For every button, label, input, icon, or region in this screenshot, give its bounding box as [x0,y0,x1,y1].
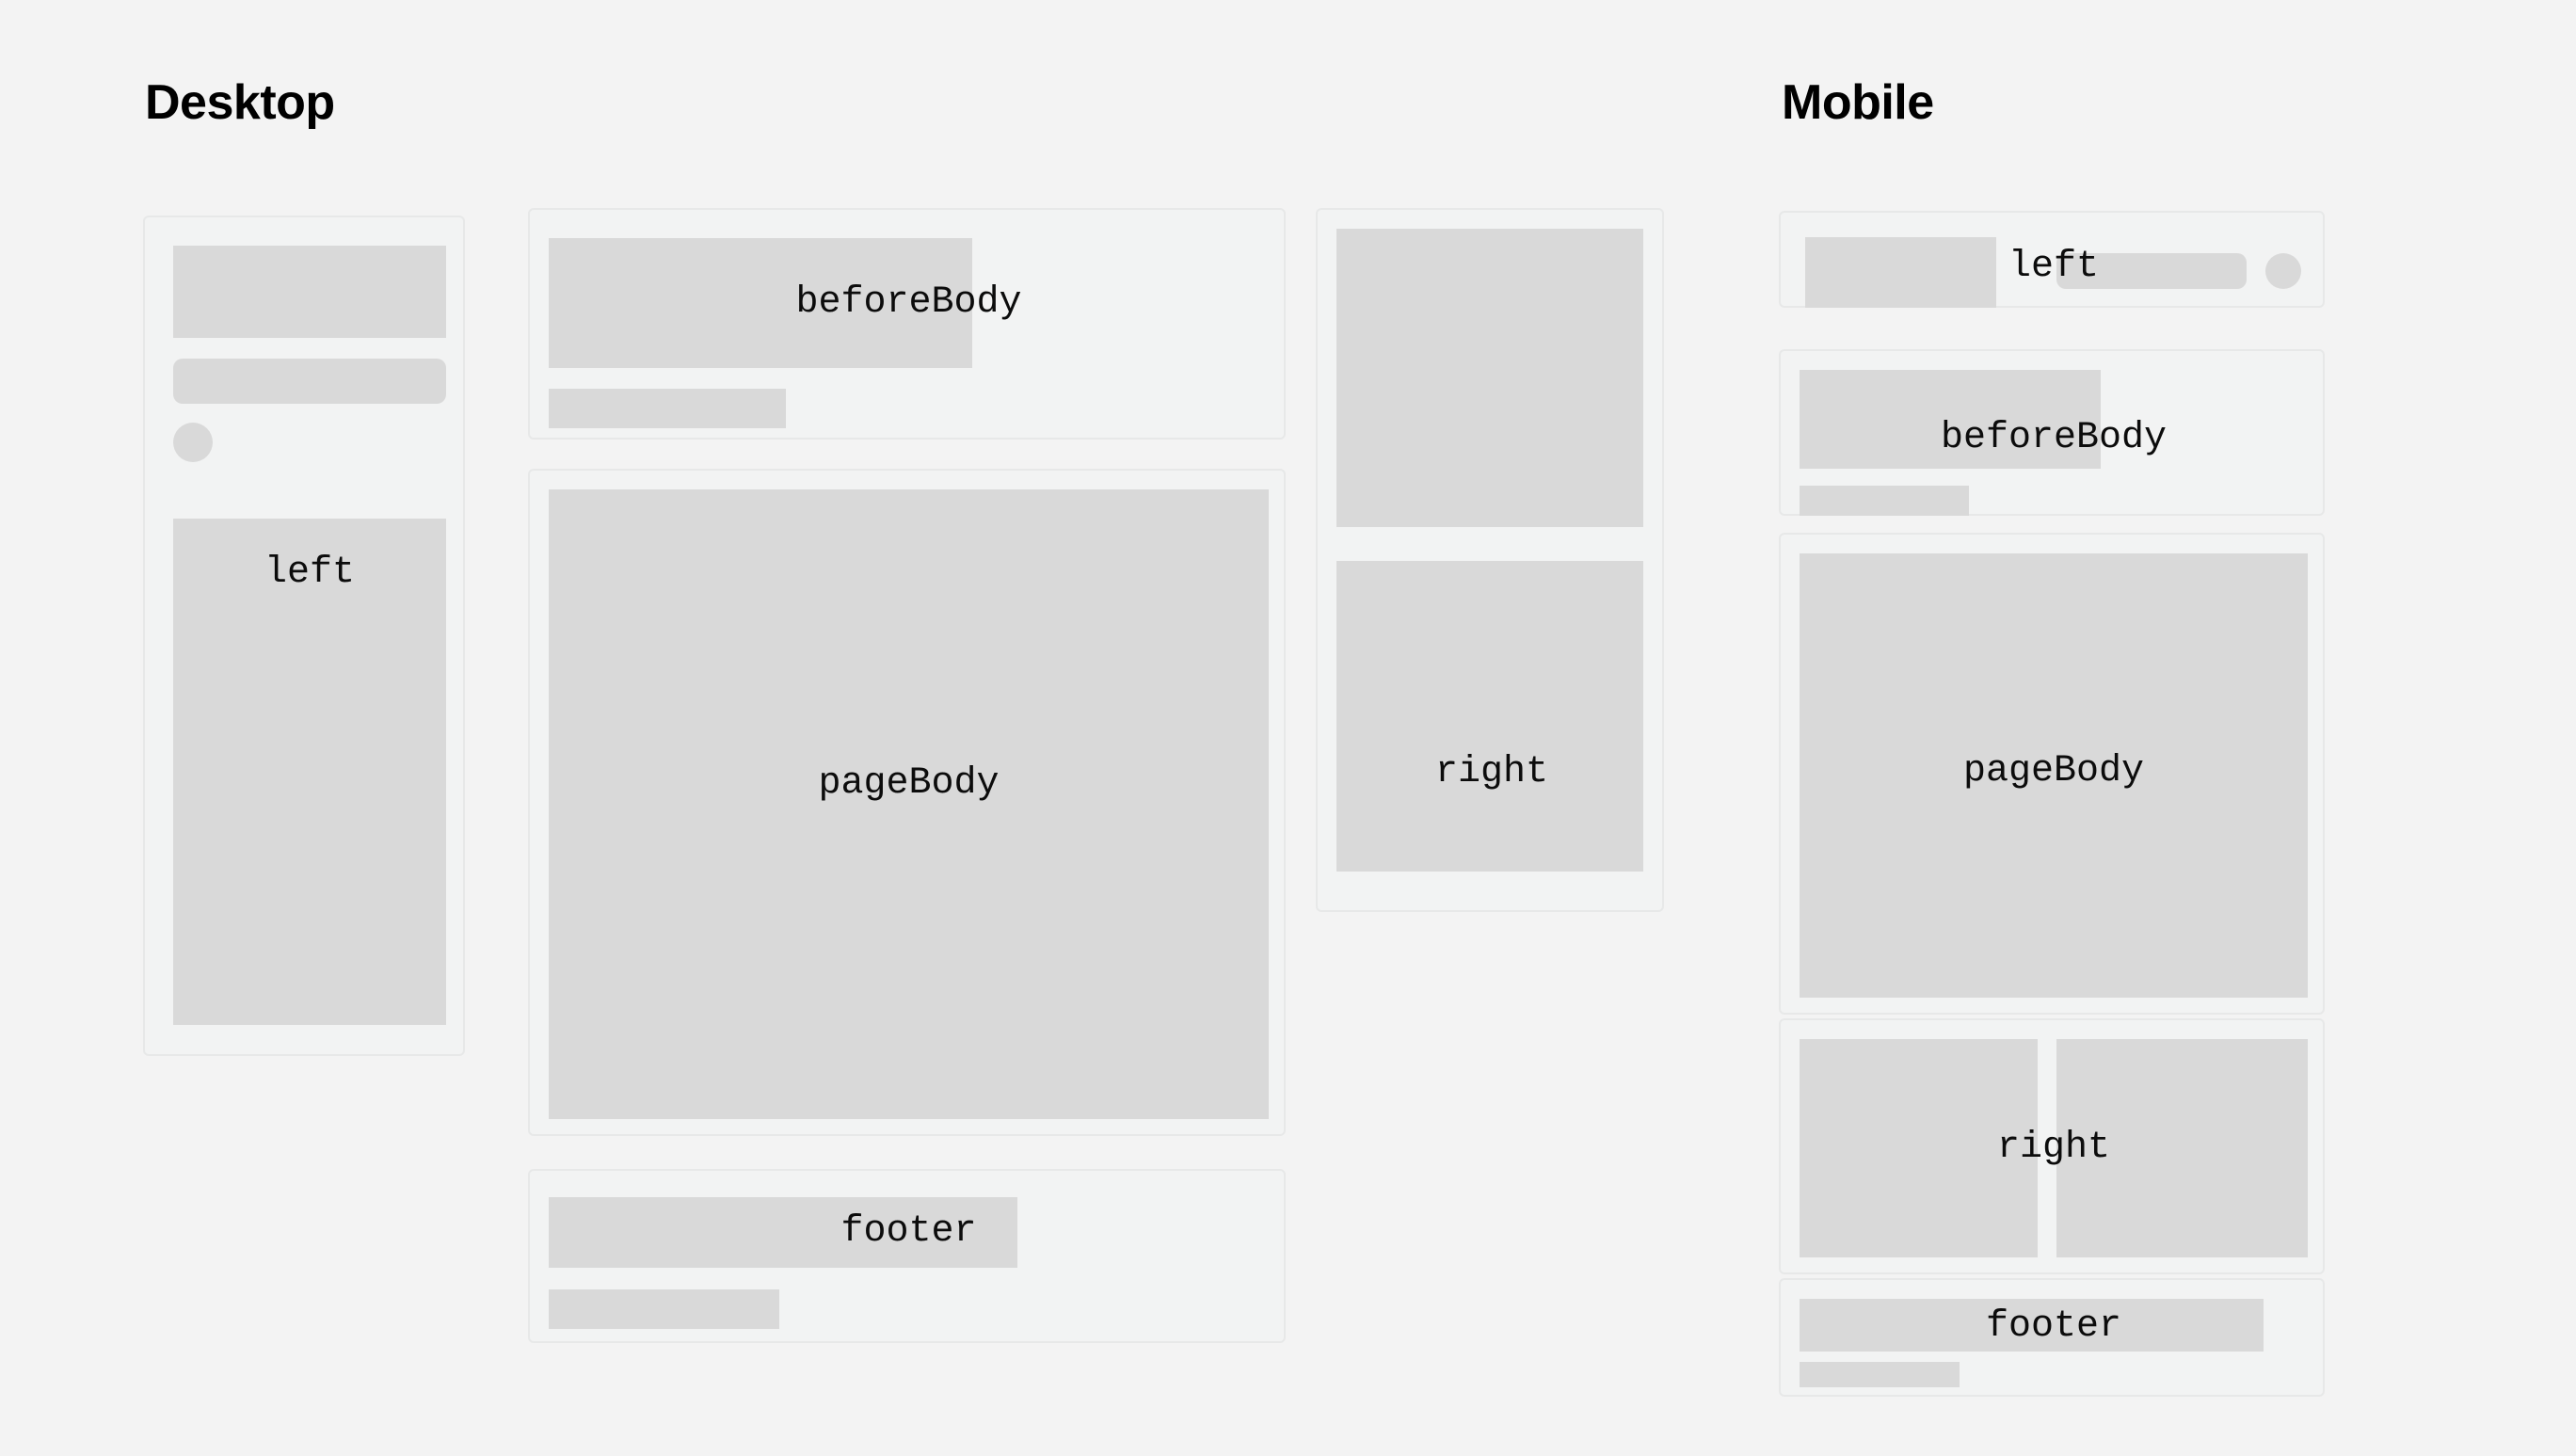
mobile-right-widget-block-right [2056,1039,2308,1257]
mobile-footer-block [1800,1299,2264,1352]
wireframe-canvas: Desktop left beforeBody pageBody right f… [0,0,2576,1456]
mobile-left-panel[interactable]: left [1779,211,2325,308]
desktop-before-body-banner-block [549,238,972,368]
mobile-before-body-panel[interactable]: beforeBody [1779,349,2325,516]
mobile-left-avatar[interactable] [2265,253,2301,289]
desktop-section-title: Desktop [145,78,335,127]
desktop-sidebar-header-block [173,246,446,338]
mobile-right-widget-block-left [1800,1039,2038,1257]
mobile-page-body-panel[interactable]: pageBody [1779,533,2325,1015]
desktop-right-panel[interactable]: right [1316,208,1664,912]
desktop-footer-bar [549,1289,779,1329]
desktop-sidebar-nav-block [173,519,446,1025]
mobile-left-search-bar[interactable] [2056,253,2247,289]
desktop-left-panel[interactable]: left [143,216,465,1056]
desktop-page-body-content-block [549,489,1269,1119]
desktop-sidebar-avatar[interactable] [173,423,213,462]
mobile-before-body-banner-block [1800,370,2101,469]
mobile-page-body-content-block [1800,553,2308,998]
desktop-right-widget-block-bottom [1336,561,1643,872]
mobile-before-body-caption-bar [1800,486,1969,516]
mobile-section-title: Mobile [1782,78,1934,127]
desktop-right-widget-block-top [1336,229,1643,527]
mobile-left-header-block [1805,237,1996,308]
mobile-footer-bar [1800,1362,1960,1387]
desktop-sidebar-search-bar[interactable] [173,359,446,404]
desktop-footer-panel[interactable]: footer [528,1169,1286,1343]
desktop-before-body-panel[interactable]: beforeBody [528,208,1286,440]
mobile-footer-panel[interactable]: footer [1779,1278,2325,1397]
desktop-footer-block [549,1197,1017,1268]
mobile-right-panel[interactable]: right [1779,1018,2325,1274]
desktop-page-body-panel[interactable]: pageBody [528,469,1286,1136]
desktop-before-body-caption-bar [549,389,786,428]
